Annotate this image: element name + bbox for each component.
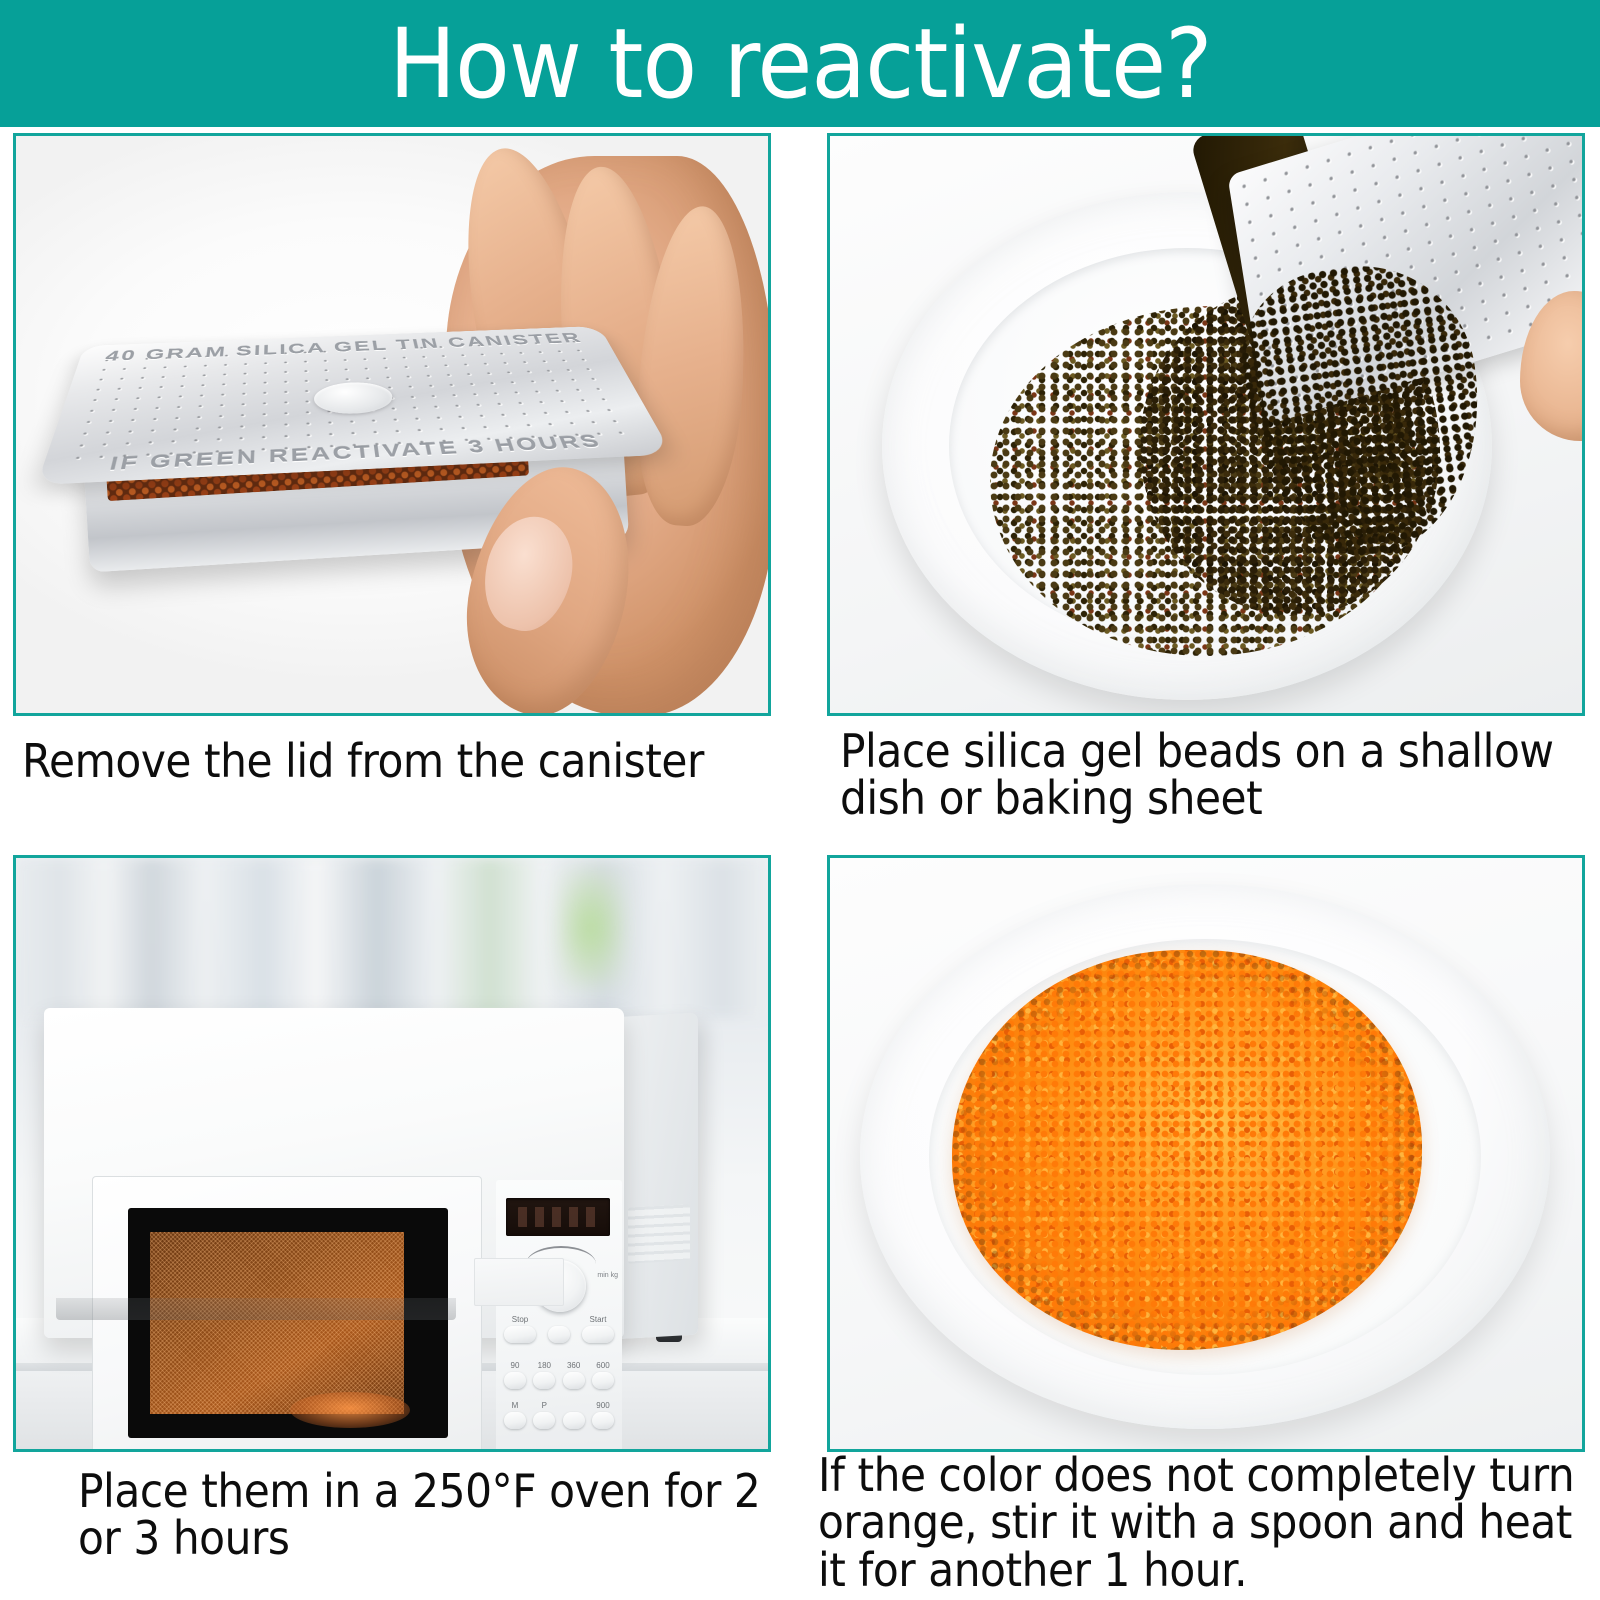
- photo-orange-beads: [830, 858, 1582, 1449]
- blurred-background-shelf: [16, 858, 768, 1018]
- stop-button[interactable]: Stop: [504, 1326, 536, 1343]
- step-2-photo-panel: [827, 133, 1585, 716]
- step-3-photo-panel: min kg Stop Start: [13, 855, 771, 1452]
- preset-600-label: 600: [596, 1361, 609, 1370]
- step-1-caption: Remove the lid from the canister: [22, 738, 776, 785]
- page-title: How to reactivate?: [389, 16, 1212, 112]
- button-row-primary: Stop Start: [504, 1326, 614, 1343]
- dial-unit-label: min kg: [597, 1272, 618, 1280]
- button-row-modes: M P 900: [504, 1412, 614, 1429]
- door-bottom-shadow: [56, 1298, 456, 1320]
- mode-p-label: P: [542, 1401, 547, 1410]
- display-digits: [518, 1207, 598, 1227]
- mode-p-button[interactable]: P: [533, 1412, 555, 1429]
- stop-button-label: Stop: [512, 1315, 528, 1324]
- preset-180-label: 180: [538, 1361, 551, 1370]
- microwave-control-panel[interactable]: min kg Stop Start: [496, 1180, 622, 1452]
- window-mesh-screen: [150, 1232, 404, 1414]
- step-2-caption: Place silica gel beads on a shallow dish…: [840, 728, 1600, 823]
- preset-360-button[interactable]: 360: [563, 1372, 585, 1389]
- preset-90-button[interactable]: 90: [504, 1372, 526, 1389]
- step-4-photo-panel: [827, 855, 1585, 1452]
- step-1-photo-panel: 40 GRAM SILICA GEL TIN CANISTER IF GREEN…: [13, 133, 771, 716]
- mode-m-label: M: [512, 1401, 519, 1410]
- preset-900-button[interactable]: 900: [592, 1412, 614, 1429]
- turntable-plate: [290, 1392, 410, 1428]
- button-row-preset-seconds: 90 180 360 600: [504, 1372, 614, 1389]
- step-4-caption: If the color does not completely turn or…: [818, 1452, 1600, 1594]
- blurred-green-object: [556, 868, 626, 988]
- photo-pouring-beads: [830, 136, 1582, 713]
- preset-600-button[interactable]: 600: [592, 1372, 614, 1389]
- start-button[interactable]: Start: [582, 1326, 614, 1343]
- header-banner: How to reactivate?: [0, 0, 1600, 127]
- preset-90-label: 90: [511, 1361, 520, 1370]
- preset-360-label: 360: [567, 1361, 580, 1370]
- step-3-caption: Place them in a 250°F oven for 2 or 3 ho…: [78, 1468, 814, 1563]
- preset-900-label: 900: [596, 1401, 609, 1410]
- lock-button[interactable]: [563, 1412, 585, 1429]
- mode-m-button[interactable]: M: [504, 1412, 526, 1429]
- brown-unreacted-beads-edge: [952, 950, 1422, 1350]
- door-latch-panel: [474, 1258, 564, 1306]
- microwave-display: [506, 1198, 610, 1236]
- infographic-root: How to reactivate? 40 GRAM SILICA GEL TI…: [0, 0, 1600, 1600]
- microwave-vent-slots: [628, 1204, 690, 1263]
- door-icon-button[interactable]: [548, 1326, 570, 1343]
- start-button-label: Start: [590, 1315, 607, 1324]
- preset-180-button[interactable]: 180: [533, 1372, 555, 1389]
- photo-microwave: min kg Stop Start: [16, 858, 768, 1449]
- photo-canister-in-hand: 40 GRAM SILICA GEL TIN CANISTER IF GREEN…: [16, 136, 768, 713]
- microwave-window: [128, 1208, 448, 1438]
